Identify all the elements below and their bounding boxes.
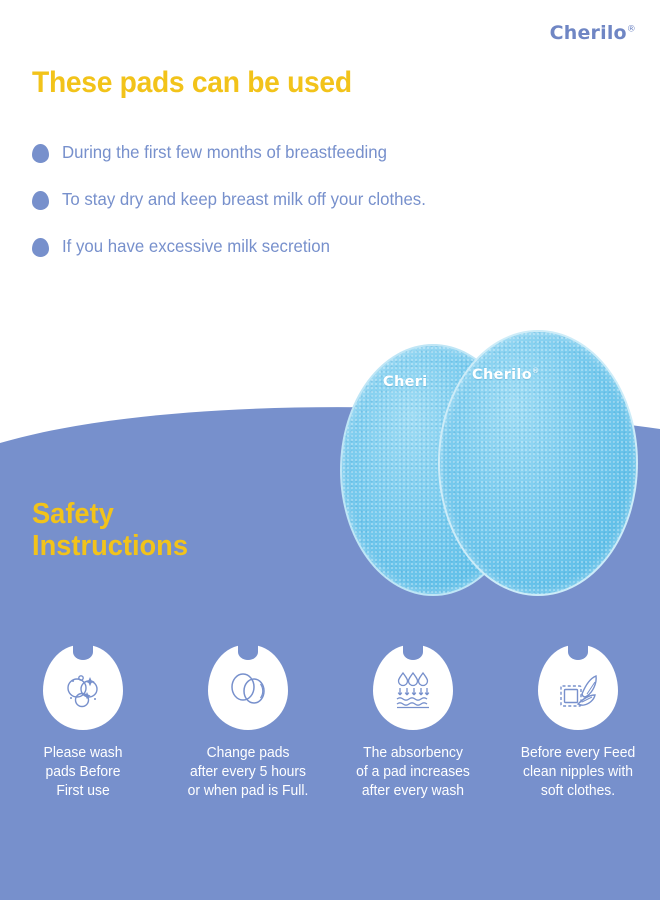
product-image: Cheri Cherilo® bbox=[340, 330, 640, 615]
list-item: If you have excessive milk secretion bbox=[32, 236, 612, 257]
safety-title-line-1: Safety bbox=[32, 498, 188, 530]
list-item-label: To stay dry and keep breast milk off you… bbox=[62, 189, 426, 209]
safety-instruction-caption: Before every Feed clean nipples with sof… bbox=[510, 744, 644, 801]
safety-instruction-item: Change pads after every 5 hours or when … bbox=[165, 645, 330, 801]
blob-bullet-icon bbox=[32, 238, 49, 257]
icon-container bbox=[373, 645, 453, 730]
page-title: These pads can be used bbox=[32, 66, 352, 100]
blob-bullet-icon bbox=[32, 191, 49, 210]
safety-instruction-item: Please wash pads Before First use bbox=[0, 645, 165, 801]
product-infographic-page: Cherilo® These pads can be used During t… bbox=[0, 0, 660, 900]
safety-instruction-caption: The absorbency of a pad increases after … bbox=[345, 744, 479, 801]
icon-container bbox=[538, 645, 618, 730]
registered-mark-icon: ® bbox=[532, 367, 539, 375]
pad-brand-label: Cheri bbox=[383, 374, 427, 390]
safety-instruction-item: The absorbency of a pad increases after … bbox=[330, 645, 495, 801]
pad-brand-label: Cherilo® bbox=[472, 367, 539, 383]
brand-logo-text: Cherilo bbox=[550, 22, 627, 44]
bubbles-sparkle-icon bbox=[59, 664, 107, 712]
brand-logo: Cherilo® bbox=[550, 22, 636, 44]
pad-brand-text: Cherilo bbox=[472, 367, 532, 383]
two-pads-icon bbox=[224, 664, 272, 712]
list-item: To stay dry and keep breast milk off you… bbox=[32, 189, 612, 210]
safety-section-title: Safety Instructions bbox=[32, 498, 188, 562]
blob-bullet-icon bbox=[32, 144, 49, 163]
safety-instruction-list: Please wash pads Before First use Change… bbox=[0, 645, 660, 801]
list-item-label: If you have excessive milk secretion bbox=[62, 236, 330, 256]
registered-mark-icon: ® bbox=[627, 25, 636, 35]
safety-instruction-caption: Please wash pads Before First use bbox=[15, 744, 149, 801]
safety-instruction-item: Before every Feed clean nipples with sof… bbox=[495, 645, 660, 801]
absorbency-droplets-icon bbox=[389, 664, 437, 712]
icon-container bbox=[43, 645, 123, 730]
cloth-feather-icon bbox=[554, 664, 602, 712]
safety-instruction-caption: Change pads after every 5 hours or when … bbox=[180, 744, 314, 801]
usage-list: During the first few months of breastfee… bbox=[32, 142, 612, 283]
icon-container bbox=[208, 645, 288, 730]
safety-title-line-2: Instructions bbox=[32, 530, 188, 562]
list-item-label: During the first few months of breastfee… bbox=[62, 142, 387, 162]
list-item: During the first few months of breastfee… bbox=[32, 142, 612, 163]
